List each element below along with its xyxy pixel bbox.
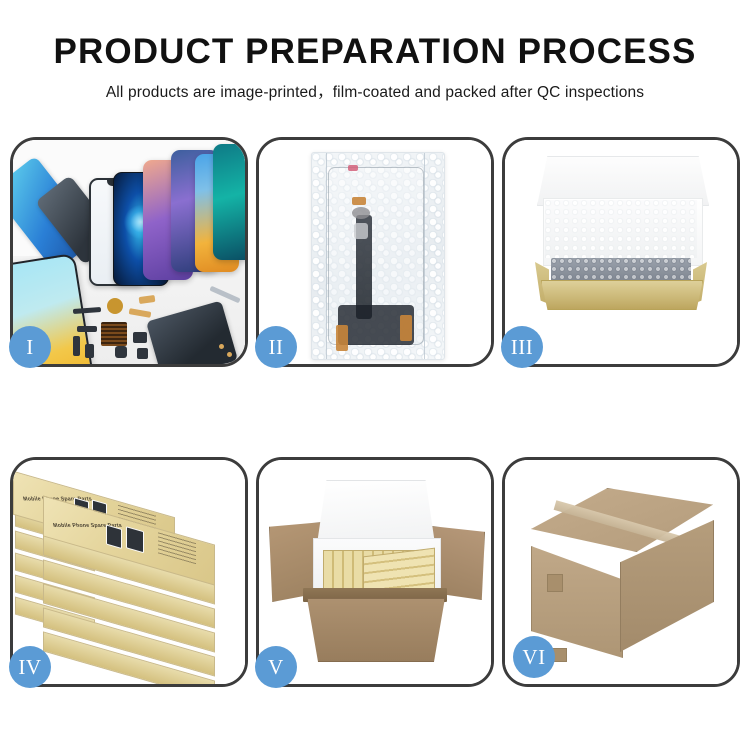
step-badge-4: IV — [9, 646, 51, 688]
gold-contact-upper-icon — [352, 197, 366, 205]
part-flex-cable-icon — [77, 326, 97, 332]
part-ic-array-icon — [101, 322, 127, 346]
gold-contact-right-icon — [400, 315, 412, 341]
part-speaker-icon — [133, 332, 147, 343]
step-image-1 — [13, 140, 245, 364]
phone-teal-display-icon — [213, 144, 245, 260]
foam-lid-icon — [317, 480, 435, 544]
step-badge-1: I — [9, 326, 51, 368]
qc-sticker-icon — [348, 165, 358, 171]
step-panel-4: Mobile Phone Spare Parts Mobile Phone Sp… — [10, 457, 248, 687]
step-panel-5: V — [256, 457, 494, 687]
step-image-5 — [259, 460, 491, 684]
process-steps-grid: I II — [10, 137, 740, 687]
step-badge-6: VI — [513, 636, 555, 678]
step-image-4: Mobile Phone Spare Parts Mobile Phone Sp… — [13, 460, 245, 684]
gold-contact-left-icon — [336, 325, 348, 351]
part-taptic-icon — [137, 348, 148, 359]
box-window-front-1 — [106, 524, 122, 549]
step-image-2 — [259, 140, 491, 364]
page-title: PRODUCT PREPARATION PROCESS — [0, 34, 750, 71]
ic-shield-icon — [354, 223, 368, 239]
part-screw-set-icon — [219, 344, 224, 349]
carton-seal-upper-icon — [547, 574, 563, 592]
step-badge-2: II — [255, 326, 297, 368]
part-button-flex-icon — [73, 336, 80, 356]
part-camera-module-icon — [115, 346, 127, 358]
step-image-3 — [505, 140, 737, 364]
carton-open-scene — [259, 460, 491, 684]
part-screw-icon — [227, 352, 232, 357]
step-panel-3: III — [502, 137, 740, 367]
bubble-wrap-scene — [259, 140, 491, 364]
box-stack-scene: Mobile Phone Spare Parts Mobile Phone Sp… — [13, 460, 245, 684]
part-gold-coil-icon — [107, 298, 123, 314]
kraft-tray-front-icon — [541, 280, 703, 310]
step-panel-2: II — [256, 137, 494, 367]
white-foam-sheet-icon — [545, 200, 697, 258]
bag-seam-right — [424, 153, 425, 359]
part-sim-tray-icon — [85, 344, 94, 358]
page-header: PRODUCT PREPARATION PROCESS All products… — [0, 0, 750, 102]
bubble-wrap-bag-icon — [311, 152, 445, 360]
bag-seam-left — [326, 153, 327, 359]
step-panel-6: VI — [502, 457, 740, 687]
carton-body-icon — [307, 598, 445, 662]
page-subtitle: All products are image-printed，film-coat… — [0, 80, 750, 102]
step-badge-3: III — [501, 326, 543, 368]
box-spec-lines-front — [158, 531, 196, 564]
open-tray-scene — [505, 140, 737, 364]
phone-parts-scene — [13, 140, 245, 364]
box-window-front-2 — [126, 526, 144, 553]
step-badge-5: V — [255, 646, 297, 688]
step-panel-1: I — [10, 137, 248, 367]
connector-blob-icon — [352, 207, 370, 219]
